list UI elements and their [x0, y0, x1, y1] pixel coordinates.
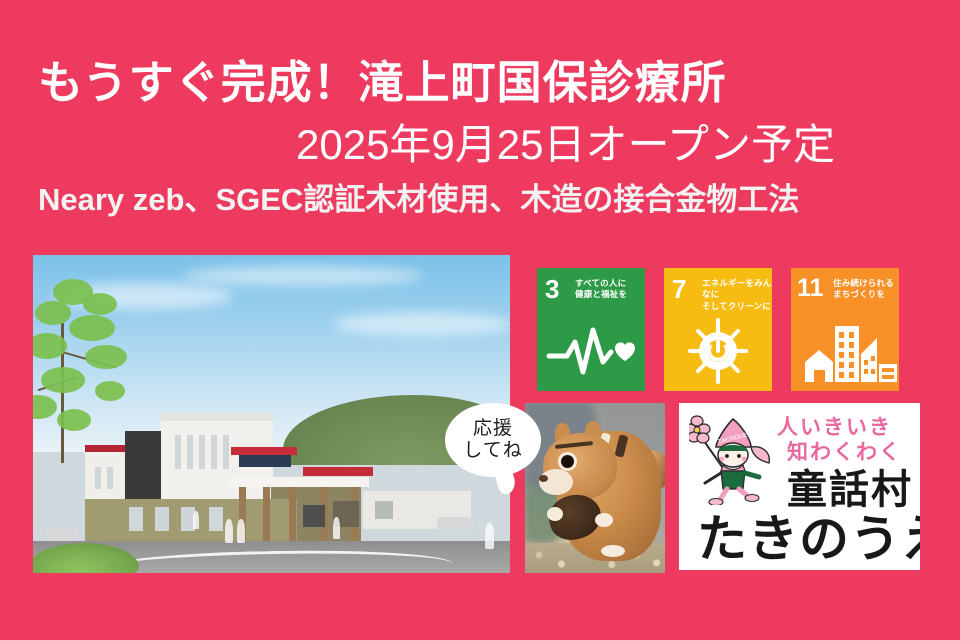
parked-car — [437, 517, 475, 530]
window — [107, 467, 113, 489]
building-rendering-photo — [33, 255, 510, 573]
speech-bubble-line1: 応援 — [473, 418, 513, 440]
mascot-icon: TAKINOUE — [689, 413, 777, 505]
sdg-icon-7: 7 エネルギーをみんなに そしてクリーンに — [664, 268, 772, 391]
town-logo: TAKINOUE 人いきいき 知わくわく 童話村 たきのうえ — [679, 403, 920, 570]
chipmunk-paw — [547, 507, 563, 521]
clerestory-windows — [239, 455, 291, 467]
page-title: もうすぐ完成！滝上町国保診療所 — [38, 60, 727, 105]
sdg-number: 3 — [545, 276, 559, 302]
sdg-number: 7 — [672, 276, 686, 302]
chipmunk-paw — [595, 513, 613, 527]
figure — [193, 511, 199, 529]
chipmunk-foot — [601, 545, 625, 557]
sdg-caption: すべての人に 健康と福祉を — [575, 278, 627, 301]
sdg-icon-3: 3 すべての人に 健康と福祉を — [537, 268, 645, 391]
window — [199, 435, 205, 469]
window — [175, 435, 181, 469]
window — [223, 435, 229, 469]
figure — [333, 517, 340, 539]
chipmunk-nose — [539, 475, 548, 482]
figure — [237, 519, 245, 543]
city-buildings-icon — [791, 316, 899, 386]
canopy-column — [289, 487, 296, 543]
sun-power-icon — [664, 316, 772, 386]
window — [209, 507, 223, 531]
sdg-caption: 住み続けられる まちづくりを — [833, 278, 894, 301]
window — [187, 435, 193, 469]
figure — [225, 519, 233, 543]
roof-accent — [85, 445, 127, 452]
sdg-icon-11: 11 住み続けられる まちづくりを — [791, 268, 899, 391]
speech-bubble-line2: してね — [463, 440, 522, 462]
window — [129, 507, 143, 531]
heartbeat-icon — [537, 316, 645, 386]
spec-subtitle: Neary zeb、SGEC認証木材使用、木造の接合金物工法 — [38, 184, 799, 215]
speech-bubble: 応援 してね — [445, 403, 541, 477]
chipmunk-muzzle — [539, 469, 573, 495]
entrance-canopy — [229, 477, 369, 487]
entrance-door — [303, 505, 325, 527]
window — [155, 507, 169, 531]
window — [375, 501, 393, 519]
logo-takinoue-text: たきのうえ — [697, 499, 920, 570]
sdg-number: 11 — [797, 276, 823, 301]
canopy-column — [263, 487, 270, 543]
sdg-caption: エネルギーをみんなに そしてクリーンに — [702, 278, 772, 312]
chipmunk-photo — [525, 403, 665, 573]
fur-stripe — [614, 434, 628, 458]
window — [211, 435, 217, 469]
cloud — [333, 313, 510, 335]
chipmunk-eye — [561, 455, 574, 468]
window — [95, 467, 101, 489]
parked-car — [45, 527, 79, 541]
cloud — [183, 267, 423, 285]
opening-date-text: 2025年9月25日オープン予定 — [296, 124, 835, 166]
roof-accent — [231, 447, 297, 455]
entrance-roof-accent — [303, 467, 373, 476]
figure — [485, 523, 494, 549]
